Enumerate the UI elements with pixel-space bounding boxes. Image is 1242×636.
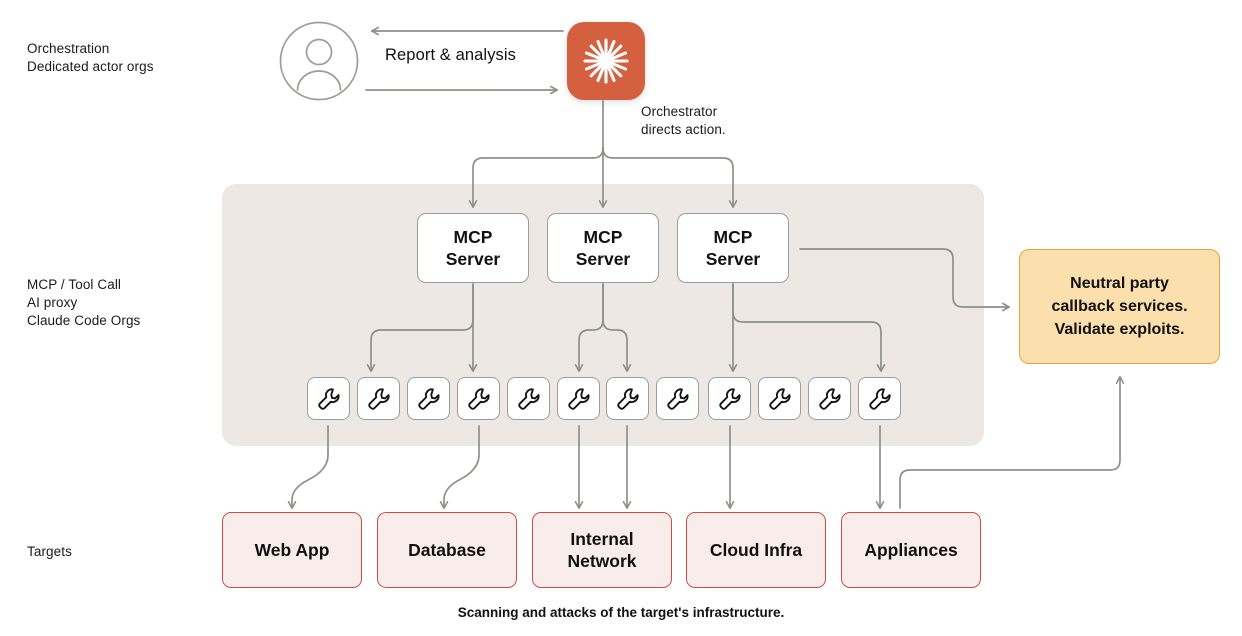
wrench-icon: [566, 386, 592, 412]
user-avatar-icon: [279, 21, 359, 101]
report-analysis-label: Report & analysis: [385, 46, 516, 64]
wrench-icon: [767, 386, 793, 412]
tool-box-2[interactable]: [357, 377, 400, 420]
wrench-icon: [366, 386, 392, 412]
diagram-canvas: Orchestration Dedicated actor orgs MCP /…: [0, 0, 1242, 636]
target-box-appliances[interactable]: Appliances: [841, 512, 981, 588]
wrench-icon: [416, 386, 442, 412]
tool-box-5[interactable]: [507, 377, 550, 420]
row-label-targets: Targets: [27, 543, 72, 561]
wrench-icon: [615, 386, 641, 412]
tool-box-7[interactable]: [606, 377, 649, 420]
wrench-icon: [466, 386, 492, 412]
target-box-cloud-infra[interactable]: Cloud Infra: [686, 512, 826, 588]
tool-box-6[interactable]: [557, 377, 600, 420]
claude-starburst-icon: [567, 22, 645, 100]
wrench-icon: [516, 386, 542, 412]
bottom-caption: Scanning and attacks of the target's inf…: [0, 605, 1242, 620]
wrench-icon: [316, 386, 342, 412]
wrench-icon: [665, 386, 691, 412]
tool-box-11[interactable]: [808, 377, 851, 420]
tool-box-9[interactable]: [708, 377, 751, 420]
target-box-internal-network[interactable]: Internal Network: [532, 512, 672, 588]
row-label-orchestration: Orchestration Dedicated actor orgs: [27, 40, 154, 76]
target-box-web-app[interactable]: Web App: [222, 512, 362, 588]
mcp-server-box-3[interactable]: MCP Server: [677, 213, 789, 283]
tool-box-4[interactable]: [457, 377, 500, 420]
row-label-mcp: MCP / Tool Call AI proxy Claude Code Org…: [27, 276, 140, 330]
target-box-database[interactable]: Database: [377, 512, 517, 588]
mcp-server-box-1[interactable]: MCP Server: [417, 213, 529, 283]
tool-box-12[interactable]: [858, 377, 901, 420]
tool-box-8[interactable]: [656, 377, 699, 420]
mcp-server-box-2[interactable]: MCP Server: [547, 213, 659, 283]
wrench-icon: [717, 386, 743, 412]
wrench-icon: [867, 386, 893, 412]
neutral-party-callback-box[interactable]: Neutral party callback services. Validat…: [1019, 249, 1220, 364]
tool-box-1[interactable]: [307, 377, 350, 420]
wrench-icon: [817, 386, 843, 412]
tool-box-3[interactable]: [407, 377, 450, 420]
orchestrator-note: Orchestrator directs action.: [641, 103, 726, 139]
tool-box-10[interactable]: [758, 377, 801, 420]
